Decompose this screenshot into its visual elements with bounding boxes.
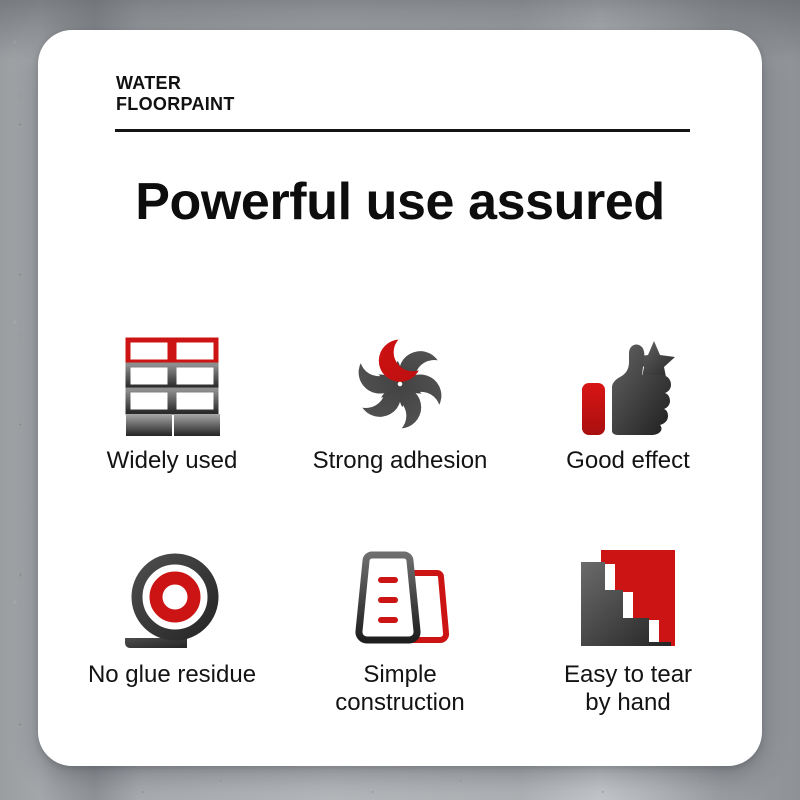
feature-item-strong-adhesion: Strong adhesion	[286, 325, 514, 475]
feature-item-widely-used: Widely used	[58, 325, 286, 475]
product-poster: WATER FLOORPAINT Powerful use assured	[0, 0, 800, 800]
tape-roll-icon	[113, 539, 231, 657]
grid-tiles-icon	[113, 325, 231, 443]
feature-item-simple-construction: Simple construction	[286, 539, 514, 717]
feature-item-good-effect: Good effect	[514, 325, 742, 475]
brand-line-2: FLOORPAINT	[116, 94, 235, 115]
feature-label: Simple construction	[335, 661, 464, 717]
feature-item-no-glue-residue: No glue residue	[58, 539, 286, 717]
header-divider	[115, 129, 690, 132]
poster-card: WATER FLOORPAINT Powerful use assured	[38, 30, 762, 766]
feature-grid: Widely used	[58, 325, 742, 717]
page-title: Powerful use assured	[38, 172, 762, 232]
feature-item-easy-to-tear: Easy to tear by hand	[514, 539, 742, 717]
feature-label: Easy to tear by hand	[564, 661, 692, 717]
thumbs-up-star-icon	[569, 325, 687, 443]
feature-label: Widely used	[107, 447, 238, 475]
torn-edge-icon	[569, 539, 687, 657]
pinwheel-petals-icon	[341, 325, 459, 443]
feature-label: No glue residue	[88, 661, 256, 689]
feature-label: Strong adhesion	[313, 447, 488, 475]
feature-label: Good effect	[566, 447, 690, 475]
brand-line-1: WATER	[116, 73, 235, 94]
paint-buckets-icon	[341, 539, 459, 657]
brand-name: WATER FLOORPAINT	[116, 73, 235, 115]
